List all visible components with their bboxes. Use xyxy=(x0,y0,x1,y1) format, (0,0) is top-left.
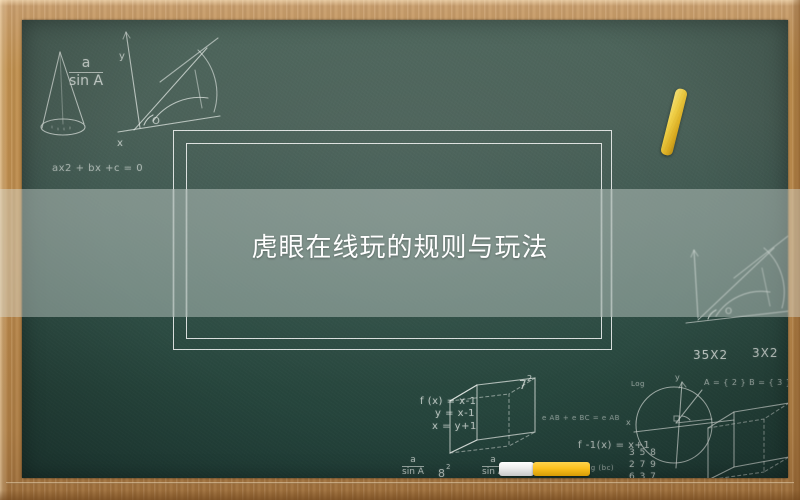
multiplication-note-35x2: 35X2 xyxy=(693,348,728,362)
circle-axis-label-x: x xyxy=(626,418,631,427)
division-row-2: 2 7 9 xyxy=(629,460,657,470)
page-title: 虎眼在线玩的规则与玩法 xyxy=(0,232,800,264)
division-row-3: 6 3 7 xyxy=(629,472,657,478)
division-row-1: 3 5 8 xyxy=(629,448,657,458)
frame-bottom-shadow xyxy=(0,490,800,500)
multiplication-note-3x2: 3X2 xyxy=(752,346,779,360)
circle-axis-label-y: y xyxy=(675,373,680,382)
set-notation-note: A = { 2 } B = { 3 } 1 = { 5 } xyxy=(704,378,788,387)
frame-top-highlight xyxy=(0,0,800,6)
log-label-note: Log xyxy=(631,380,645,388)
chalk-stick-ledge-yellow xyxy=(533,462,590,476)
chalk-stick-ledge-white xyxy=(499,462,534,476)
chalk-ledge-seam xyxy=(6,482,794,484)
chalkboard-banner: a sin A ax2 + bx +c = 0 y x O xyxy=(0,0,800,500)
